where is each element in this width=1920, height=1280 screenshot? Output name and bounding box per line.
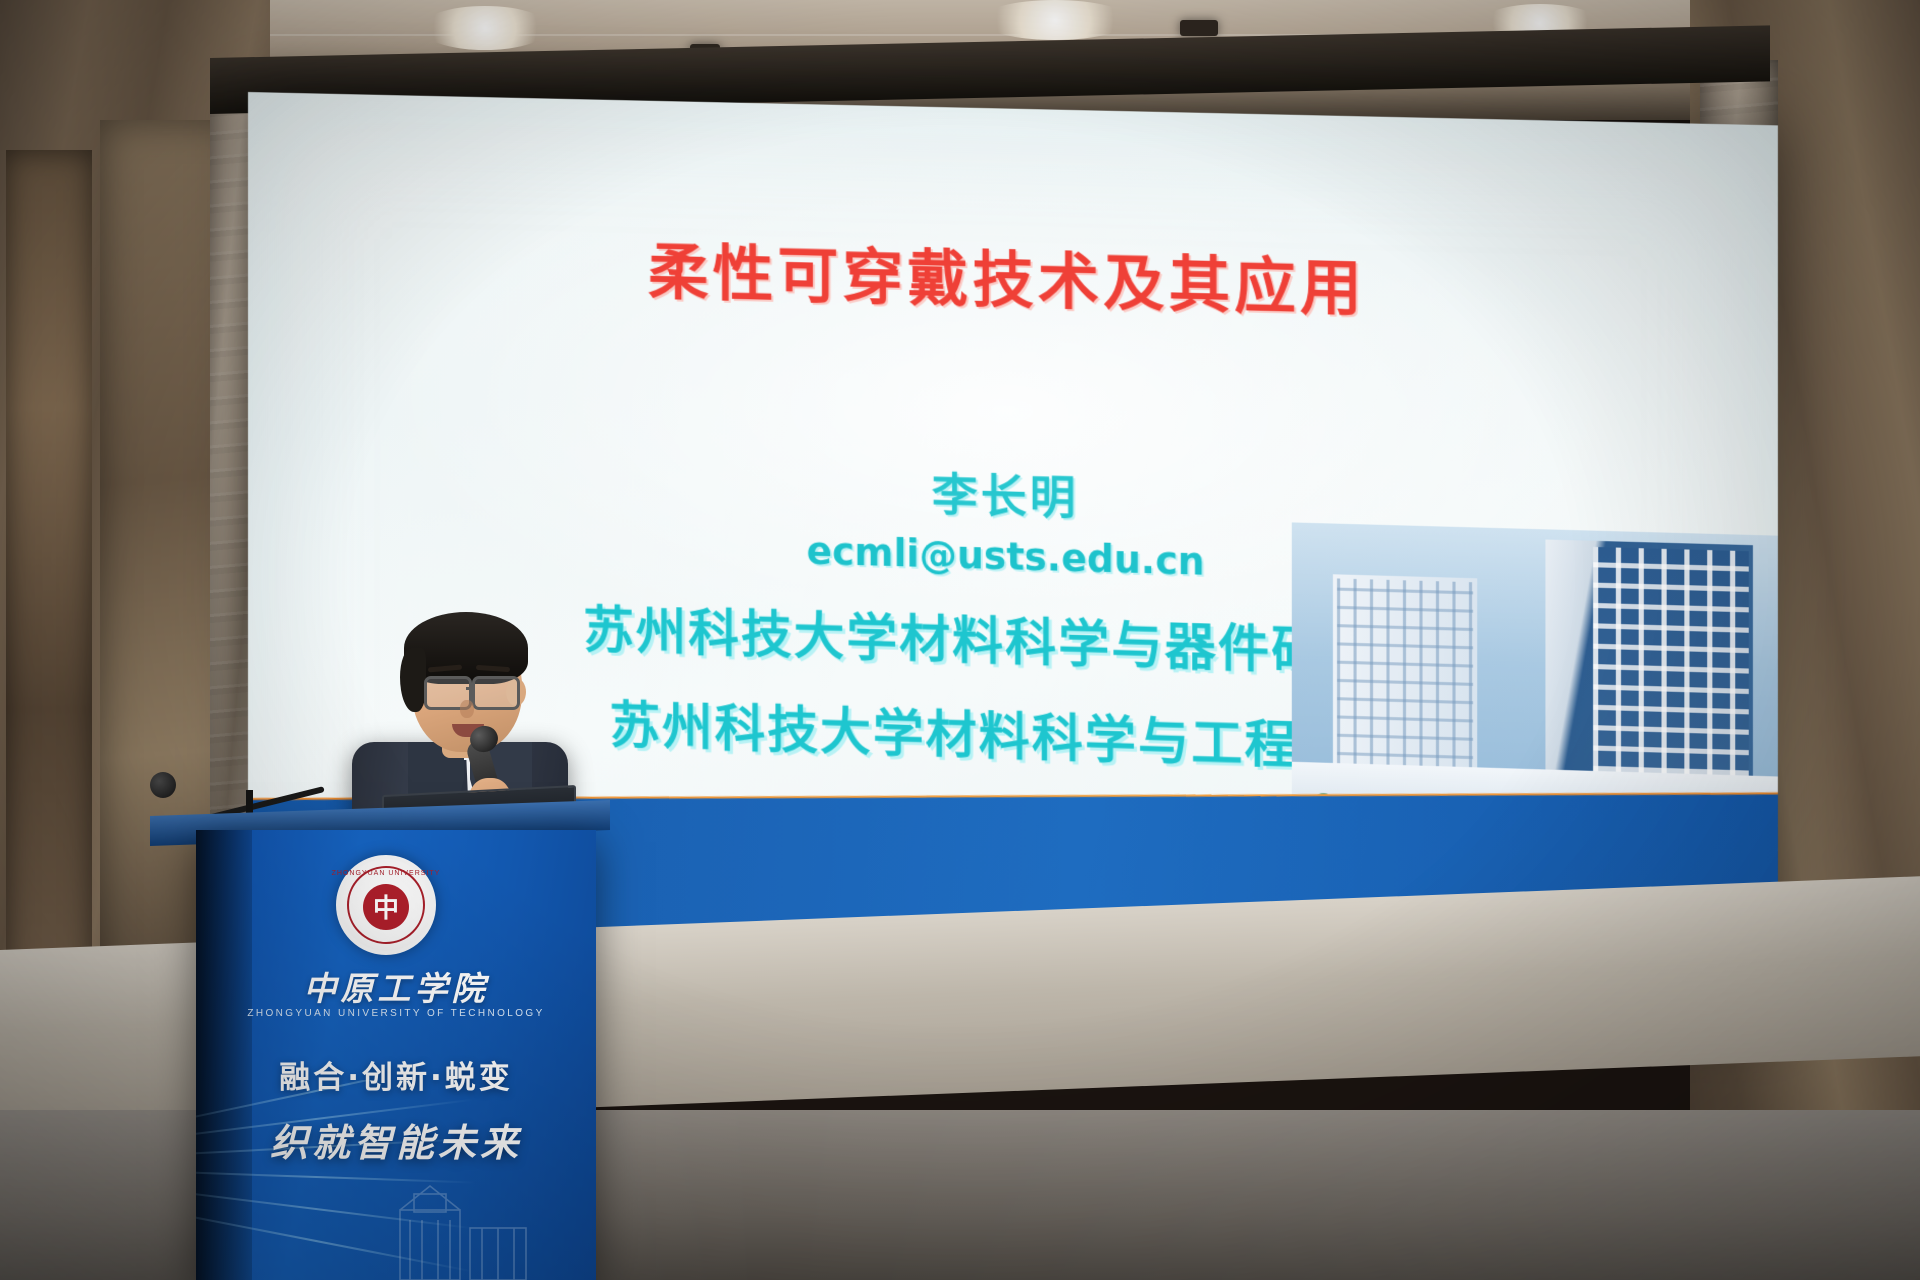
wall-panel: [6, 150, 92, 1010]
crest-character: 中: [363, 884, 409, 930]
scene-root: 柔性可穿戴技术及其应用 李长明 ecmli@usts.edu.cn 苏州科技大学…: [0, 0, 1920, 1280]
building-tower-windows: [1593, 547, 1749, 796]
slide-title: 柔性可穿戴技术及其应用: [248, 214, 1778, 339]
ceiling-speaker: [1180, 20, 1218, 36]
crest-arc-text: ZHONGYUAN UNIVERSITY: [332, 870, 441, 877]
podium-building-sketch: [370, 1180, 570, 1280]
university-crest: ZHONGYUAN UNIVERSITY 中: [336, 855, 436, 955]
podium-university-name-en: ZHONGYUAN UNIVERSITY OF TECHNOLOGY: [196, 1008, 596, 1019]
speaker-hair-side: [400, 648, 426, 712]
speaker-nose: [460, 700, 474, 718]
ceiling-light: [420, 6, 550, 50]
podium-university-name-cn: 中原工学院: [196, 962, 596, 1010]
ceiling-light: [980, 0, 1130, 40]
podium-slogan-line1: 融合·创新·蜕变: [196, 1052, 596, 1097]
building-left-windows: [1337, 578, 1473, 777]
speaker-glasses-right: [472, 676, 520, 710]
gooseneck-mic-head[interactable]: [150, 772, 176, 798]
podium-slogan-line2: 织就智能未来: [196, 1112, 596, 1167]
speaker-glasses-bridge: [466, 687, 474, 690]
